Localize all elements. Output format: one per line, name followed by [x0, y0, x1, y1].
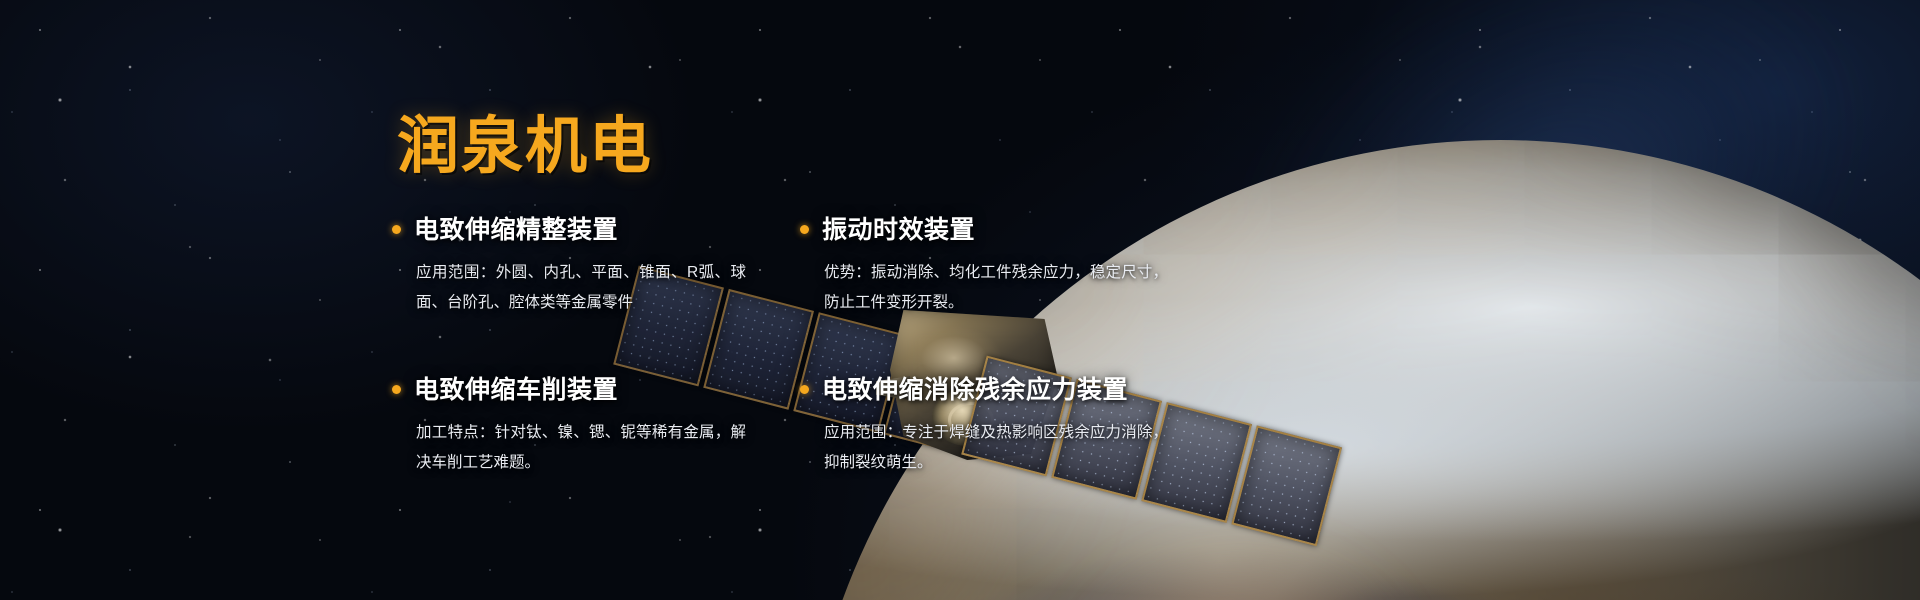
bullet-dot-icon [392, 225, 401, 234]
banner-content: 润泉机电 电致伸缩精整装置 应用范围：外圆、内孔、平面、锥面、R弧、球面、台阶孔… [0, 0, 1920, 600]
feature-item-1[interactable]: 振动时效装置 优势：振动消除、均化工件残余应力，稳定尺寸，防止工件变形开裂。 [782, 210, 1172, 318]
bullet-dot-icon [392, 385, 401, 394]
feature-description: 应用范围：外圆、内孔、平面、锥面、R弧、球面、台阶孔、腔体类等金属零件 [416, 258, 746, 318]
feature-description: 加工特点：针对钛、镍、锶、铌等稀有金属，解决车削工艺难题。 [416, 418, 746, 478]
feature-heading: 电致伸缩车削装置 [392, 370, 782, 406]
feature-title: 振动时效装置 [822, 210, 975, 246]
feature-heading: 电致伸缩精整装置 [392, 210, 782, 246]
feature-row-bottom: 电致伸缩车削装置 加工特点：针对钛、镍、锶、铌等稀有金属，解决车削工艺难题。 电… [392, 370, 1172, 478]
feature-title: 电致伸缩精整装置 [414, 210, 618, 246]
feature-item-3[interactable]: 电致伸缩消除残余应力装置 应用范围：专注于焊缝及热影响区残余应力消除，抑制裂纹萌… [782, 370, 1172, 478]
feature-title: 电致伸缩消除残余应力装置 [822, 370, 1128, 406]
feature-item-2[interactable]: 电致伸缩车削装置 加工特点：针对钛、镍、锶、铌等稀有金属，解决车削工艺难题。 [392, 370, 782, 478]
hero-banner: 润泉机电 电致伸缩精整装置 应用范围：外圆、内孔、平面、锥面、R弧、球面、台阶孔… [0, 0, 1920, 600]
feature-title: 电致伸缩车削装置 [414, 370, 618, 406]
feature-grid: 电致伸缩精整装置 应用范围：外圆、内孔、平面、锥面、R弧、球面、台阶孔、腔体类等… [392, 210, 1172, 478]
feature-heading: 振动时效装置 [800, 210, 1172, 246]
bullet-dot-icon [800, 225, 809, 234]
feature-description: 应用范围：专注于焊缝及热影响区残余应力消除，抑制裂纹萌生。 [824, 418, 1168, 478]
feature-description: 优势：振动消除、均化工件残余应力，稳定尺寸，防止工件变形开裂。 [824, 258, 1168, 318]
feature-heading: 电致伸缩消除残余应力装置 [800, 370, 1172, 406]
feature-item-0[interactable]: 电致伸缩精整装置 应用范围：外圆、内孔、平面、锥面、R弧、球面、台阶孔、腔体类等… [392, 210, 782, 318]
brand-title: 润泉机电 [397, 95, 653, 185]
bullet-dot-icon [800, 385, 809, 394]
feature-row-top: 电致伸缩精整装置 应用范围：外圆、内孔、平面、锥面、R弧、球面、台阶孔、腔体类等… [392, 210, 1172, 318]
